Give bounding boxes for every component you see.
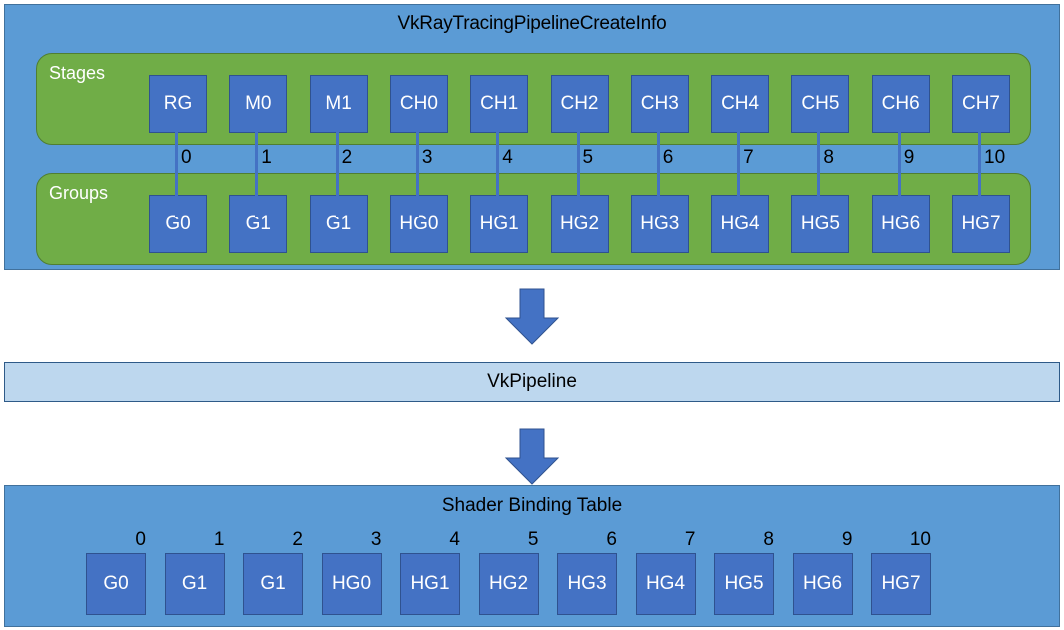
group-cell-1: G1 bbox=[229, 195, 287, 253]
stage-cell-1: M0 bbox=[229, 75, 287, 133]
sbt-cell-2: G1 bbox=[243, 553, 303, 615]
stage-group-index-0: 0 bbox=[181, 148, 192, 167]
stage-group-index-6: 6 bbox=[663, 148, 674, 167]
stage-group-connector-0 bbox=[175, 111, 178, 217]
group-cell-3: HG0 bbox=[390, 195, 448, 253]
sbt-index-9: 9 bbox=[793, 530, 853, 549]
sbt-index-10: 10 bbox=[871, 530, 931, 549]
group-cell-9: HG6 bbox=[872, 195, 930, 253]
vkpipeline-label: VkPipeline bbox=[487, 371, 577, 393]
sbt-index-4: 4 bbox=[400, 530, 460, 549]
sbt-cell-0: G0 bbox=[86, 553, 146, 615]
stage-group-connector-3 bbox=[416, 111, 419, 217]
stage-group-connector-4 bbox=[496, 111, 499, 217]
sbt-index-7: 7 bbox=[636, 530, 696, 549]
sbt-cell-7: HG4 bbox=[636, 553, 696, 615]
arrow-pipeline-to-sbt bbox=[503, 428, 561, 486]
stages-band-label: Stages bbox=[49, 63, 105, 84]
group-cell-10: HG7 bbox=[952, 195, 1010, 253]
stage-group-connector-8 bbox=[817, 111, 820, 217]
stage-group-index-9: 9 bbox=[904, 148, 915, 167]
sbt-cell-4: HG1 bbox=[400, 553, 460, 615]
stage-cell-2: M1 bbox=[310, 75, 368, 133]
stage-group-index-5: 5 bbox=[583, 148, 594, 167]
sbt-cell-6: HG3 bbox=[557, 553, 617, 615]
shader-binding-table-title: Shader Binding Table bbox=[5, 495, 1059, 517]
stage-group-index-10: 10 bbox=[984, 148, 1005, 167]
sbt-cell-10: HG7 bbox=[871, 553, 931, 615]
stage-cell-4: CH1 bbox=[470, 75, 528, 133]
sbt-index-2: 2 bbox=[243, 530, 303, 549]
group-cell-7: HG4 bbox=[711, 195, 769, 253]
stage-group-connector-7 bbox=[737, 111, 740, 217]
sbt-cell-8: HG5 bbox=[714, 553, 774, 615]
stage-cell-7: CH4 bbox=[711, 75, 769, 133]
stage-cell-3: CH0 bbox=[390, 75, 448, 133]
group-cell-0: G0 bbox=[149, 195, 207, 253]
create-info-panel: VkRayTracingPipelineCreateInfo Stages RG… bbox=[4, 4, 1060, 270]
stage-group-connector-5 bbox=[577, 111, 580, 217]
create-info-title: VkRayTracingPipelineCreateInfo bbox=[5, 13, 1059, 35]
sbt-index-3: 3 bbox=[322, 530, 382, 549]
sbt-index-6: 6 bbox=[557, 530, 617, 549]
sbt-cell-1: G1 bbox=[165, 553, 225, 615]
shader-binding-table-panel: Shader Binding Table G00G11G12HG03HG14HG… bbox=[4, 485, 1060, 627]
stage-group-connector-6 bbox=[657, 111, 660, 217]
sbt-cell-3: HG0 bbox=[322, 553, 382, 615]
group-cell-4: HG1 bbox=[470, 195, 528, 253]
sbt-index-5: 5 bbox=[479, 530, 539, 549]
stage-group-index-4: 4 bbox=[502, 148, 513, 167]
arrow-create-info-to-pipeline bbox=[503, 288, 561, 346]
group-cell-5: HG2 bbox=[551, 195, 609, 253]
groups-band-label: Groups bbox=[49, 183, 108, 204]
group-cell-2: G1 bbox=[310, 195, 368, 253]
stage-cell-8: CH5 bbox=[791, 75, 849, 133]
stage-group-index-1: 1 bbox=[261, 148, 272, 167]
vkpipeline-bar: VkPipeline bbox=[4, 362, 1060, 402]
stage-cell-9: CH6 bbox=[872, 75, 930, 133]
sbt-index-8: 8 bbox=[714, 530, 774, 549]
stage-group-connector-9 bbox=[898, 111, 901, 217]
sbt-cell-9: HG6 bbox=[793, 553, 853, 615]
sbt-index-0: 0 bbox=[86, 530, 146, 549]
stage-cell-10: CH7 bbox=[952, 75, 1010, 133]
stage-group-connector-1 bbox=[255, 111, 258, 217]
stage-cell-6: CH3 bbox=[631, 75, 689, 133]
sbt-index-1: 1 bbox=[165, 530, 225, 549]
stage-group-index-7: 7 bbox=[743, 148, 754, 167]
stage-cell-0: RG bbox=[149, 75, 207, 133]
group-cell-8: HG5 bbox=[791, 195, 849, 253]
stage-group-index-2: 2 bbox=[342, 148, 353, 167]
stage-group-connector-10 bbox=[978, 111, 981, 217]
stage-cell-5: CH2 bbox=[551, 75, 609, 133]
groups-band: Groups G0G1G1HG0HG1HG2HG3HG4HG5HG6HG7 bbox=[36, 173, 1031, 265]
stages-band: Stages RGM0M1CH0CH1CH2CH3CH4CH5CH6CH7 bbox=[36, 53, 1031, 145]
sbt-cell-5: HG2 bbox=[479, 553, 539, 615]
stage-group-index-3: 3 bbox=[422, 148, 433, 167]
stage-group-index-8: 8 bbox=[823, 148, 834, 167]
group-cell-6: HG3 bbox=[631, 195, 689, 253]
stage-group-connector-2 bbox=[336, 111, 339, 217]
